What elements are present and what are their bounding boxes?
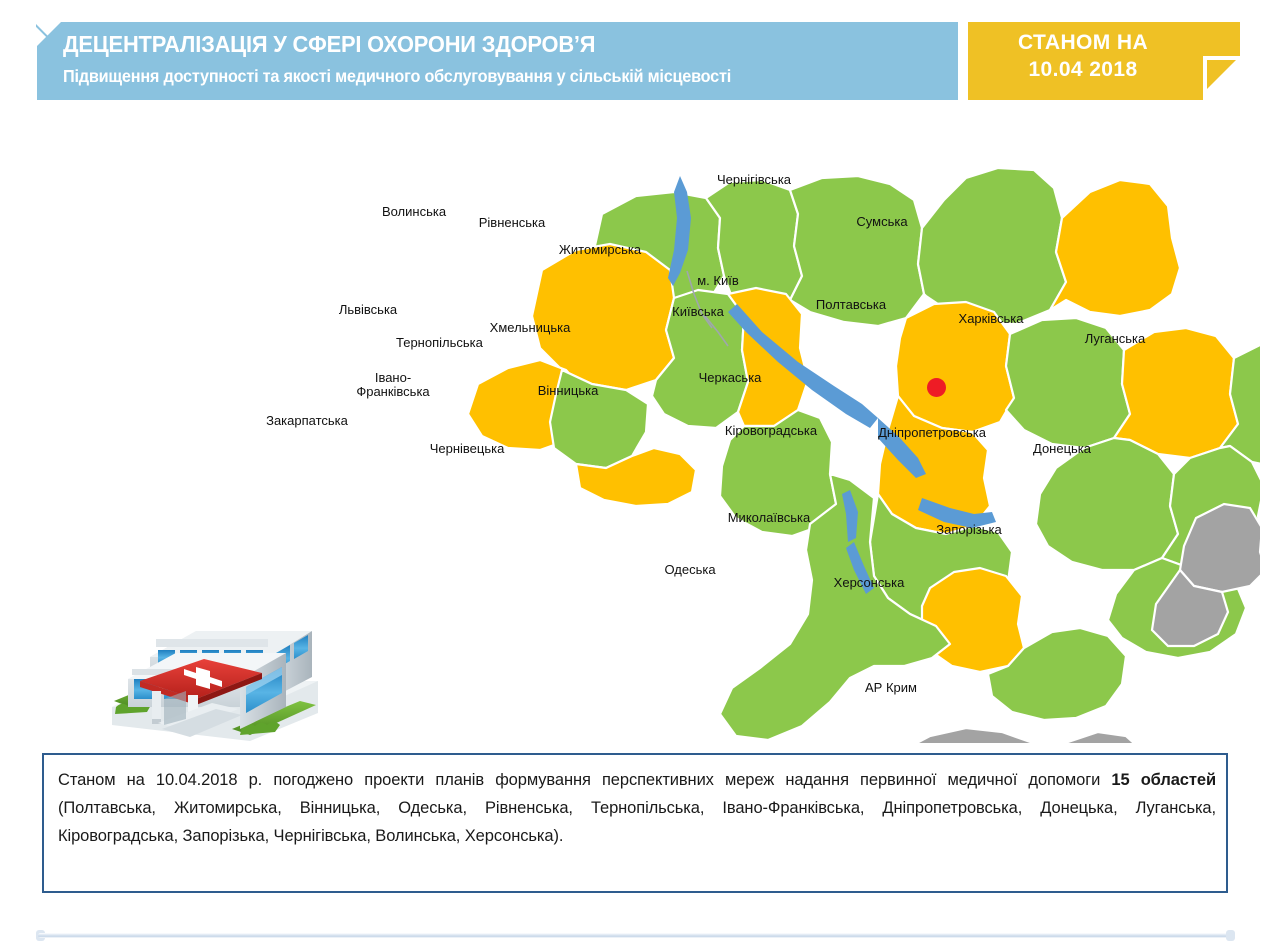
date-badge-line1: СТАНОМ НА — [968, 29, 1198, 56]
map-region-24[interactable] — [896, 728, 1146, 743]
capital-dot-icon — [927, 378, 946, 397]
footnote-text: Станом на 10.04.2018 р. погоджено проект… — [58, 766, 1216, 850]
footnote-part2: (Полтавська, Житомирська, Вінницька, Оде… — [58, 799, 1216, 845]
ukraine-map: ВолинськаРівненськаЖитомирськаЧернігівсь… — [250, 118, 1260, 743]
footnote-highlight: 15 областей — [1111, 771, 1216, 789]
page-subtitle: Підвищення доступності та якості медично… — [63, 66, 895, 87]
map-region-10[interactable] — [1114, 328, 1238, 458]
page-title: ДЕЦЕНТРАЛІЗАЦІЯ У СФЕРІ ОХОРОНИ ЗДОРОВ’Я — [63, 31, 595, 58]
bottom-divider — [38, 933, 1232, 938]
map-region-4[interactable] — [1050, 180, 1180, 316]
map-region-20[interactable] — [922, 568, 1024, 672]
date-badge-line2: 10.04 2018 — [968, 56, 1198, 83]
date-badge-text: СТАНОМ НА 10.04 2018 — [968, 29, 1198, 83]
ukraine-map-svg — [250, 118, 1260, 743]
map-region-3[interactable] — [918, 168, 1066, 324]
infographic-page: ДЕЦЕНТРАЛІЗАЦІЯ У СФЕРІ ОХОРОНИ ЗДОРОВ’Я… — [0, 0, 1269, 951]
map-region-8[interactable] — [896, 302, 1014, 432]
map-region-9[interactable] — [1006, 318, 1130, 448]
footnote-part1: Станом на 10.04.2018 р. погоджено проект… — [58, 771, 1111, 789]
hospital-building-icon — [100, 595, 330, 745]
map-region-18[interactable] — [1036, 438, 1178, 570]
divider-cap-right — [1226, 930, 1235, 941]
map-region-2[interactable] — [790, 176, 924, 326]
header-corner-fold-line — [36, 21, 62, 47]
